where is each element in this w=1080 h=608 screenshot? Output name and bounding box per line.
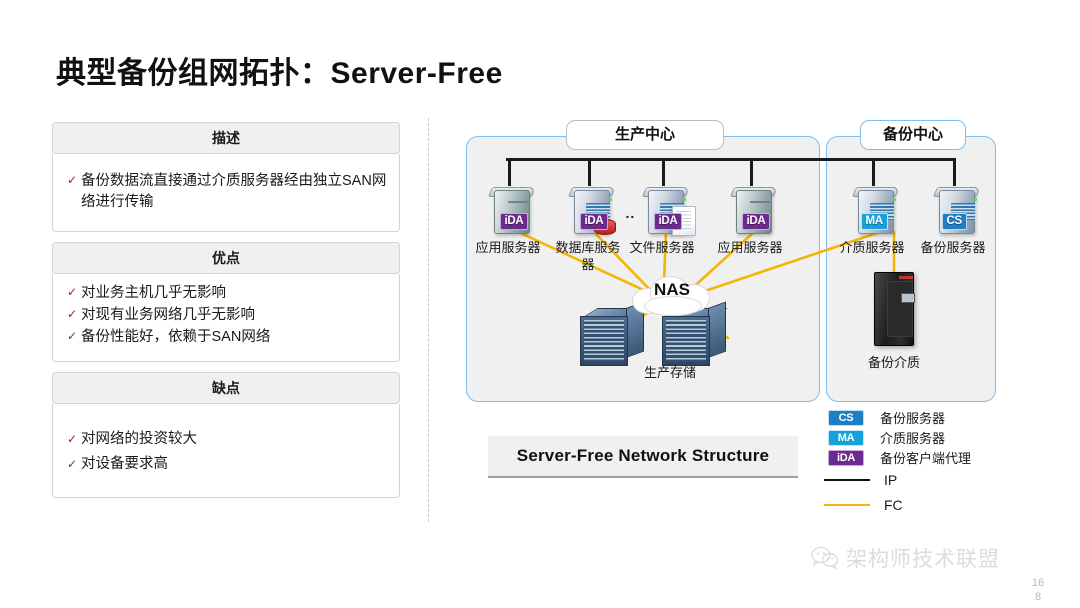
list-item-text: 对网络的投资较大 [81, 427, 197, 451]
lan-drop-line [750, 158, 753, 186]
page-number-top: 16 [1018, 576, 1058, 590]
card-disadvantages: 缺点 ✓ 对网络的投资较大 ✓ 对设备要求高 [52, 372, 400, 498]
server-icon: .. iDA [640, 186, 692, 236]
node-label: 文件服务器 [629, 239, 695, 256]
list-item: ✓ 备份数据流直接通过介质服务器经由独立SAN网络进行传输 [63, 171, 389, 213]
status-led-icon [974, 198, 977, 201]
status-led-icon [893, 198, 896, 201]
ida-badge-icon: iDA [828, 450, 864, 466]
check-icon: ✓ [63, 283, 81, 302]
status-led-icon [683, 198, 686, 201]
server-icon: iDA [566, 186, 618, 236]
card-body-description: ✓ 备份数据流直接通过介质服务器经由独立SAN网络进行传输 [52, 154, 400, 232]
check-icon: ✓ [63, 171, 81, 190]
node-app-server-1: iDA 应用服务器 [482, 186, 541, 256]
agent-badge-ida: iDA [500, 213, 529, 230]
legend-item-cs: CS 备份服务器 [828, 408, 1048, 427]
legend: CS 备份服务器 MA 介质服务器 iDA 备份客户端代理 IP FC [828, 408, 1048, 518]
list-item: ✓ 对现有业务网络几乎无影响 [63, 305, 389, 326]
list-item: ✓ 对网络的投资较大 [63, 427, 389, 451]
node-label: 应用服务器 [717, 239, 783, 256]
structure-banner: Server-Free Network Structure [488, 436, 798, 478]
list-item: ✓ 备份性能好，依赖于SAN网络 [63, 327, 389, 348]
list-item: ✓ 对业务主机几乎无影响 [63, 283, 389, 304]
server-slot [508, 201, 528, 203]
list-item-text: 对业务主机几乎无影响 [81, 283, 226, 304]
node-media-server: MA 介质服务器 [846, 186, 905, 256]
agent-badge-ida: iDA [580, 213, 609, 230]
card-description: 描述 ✓ 备份数据流直接通过介质服务器经由独立SAN网络进行传输 [52, 122, 400, 232]
tape-brand-mark [899, 276, 913, 279]
lan-drop-line [953, 158, 956, 186]
tape-caption: 备份介质 [840, 352, 948, 371]
page-number: 16 8 [1018, 576, 1058, 604]
list-item-text: 备份性能好，依赖于SAN网络 [81, 327, 270, 348]
vertical-divider [428, 118, 429, 522]
card-heading-description: 描述 [52, 122, 400, 154]
node-app-server-2: iDA 应用服务器 [724, 186, 783, 256]
server-icon: iDA [486, 186, 538, 236]
ellipsis-indicator: .. [626, 208, 636, 218]
agent-badge-cs: CS [942, 213, 967, 230]
agent-badge-ida: iDA [742, 213, 771, 230]
array-front [580, 316, 628, 366]
nas-san-cloud-icon: NAS [628, 272, 716, 316]
legend-label: 备份客户端代理 [880, 448, 971, 467]
network-topology-diagram: 生产中心 备份中心 LAN [440, 112, 1080, 608]
node-label: 数据库服务器 [555, 239, 621, 273]
left-info-panel: 描述 ✓ 备份数据流直接通过介质服务器经由独立SAN网络进行传输 优点 ✓ 对业… [52, 122, 400, 508]
server-icon: MA [850, 186, 902, 236]
check-icon: ✓ [63, 305, 81, 324]
cloud-label: NAS [628, 281, 716, 299]
legend-label: 介质服务器 [880, 428, 945, 447]
zone-label-production: 生产中心 [566, 120, 724, 150]
watermark-text: 架构师技术联盟 [846, 543, 1000, 573]
legend-item-ida: iDA 备份客户端代理 [828, 448, 1048, 467]
page-number-bottom: 8 [1018, 590, 1058, 604]
tape-cabinet [874, 272, 914, 346]
tape-door [887, 281, 913, 337]
tape-panel [901, 293, 915, 303]
wechat-icon [810, 546, 840, 570]
list-item-text: 对现有业务网络几乎无影响 [81, 305, 255, 326]
lan-drop-line [588, 158, 591, 186]
ma-badge-icon: MA [828, 430, 864, 446]
server-slot [750, 201, 770, 203]
legend-item-ma: MA 介质服务器 [828, 428, 1048, 447]
legend-label: 备份服务器 [880, 408, 945, 427]
server-icon: iDA [728, 186, 780, 236]
card-advantages: 优点 ✓ 对业务主机几乎无影响 ✓ 对现有业务网络几乎无影响 ✓ 备份性能好，依… [52, 242, 400, 362]
zone-label-backup: 备份中心 [860, 120, 966, 150]
watermark: 架构师技术联盟 [810, 543, 1000, 573]
status-led-icon [609, 198, 612, 201]
lan-bus-line [506, 158, 956, 161]
lan-drop-line [872, 158, 875, 186]
storage-array-icon [580, 308, 642, 364]
node-label: 介质服务器 [839, 239, 905, 256]
fc-line-icon [824, 504, 870, 506]
legend-item-fc: FC [828, 493, 1048, 517]
check-icon: ✓ [63, 427, 81, 451]
check-icon: ✓ [63, 452, 81, 476]
node-label: 应用服务器 [475, 239, 541, 256]
card-heading-disadvantages: 缺点 [52, 372, 400, 404]
array-front [662, 316, 710, 366]
cs-badge-icon: CS [828, 410, 864, 426]
card-body-advantages: ✓ 对业务主机几乎无影响 ✓ 对现有业务网络几乎无影响 ✓ 备份性能好，依赖于S… [52, 274, 400, 362]
node-file-server: .. iDA 文件服务器 [636, 186, 695, 256]
legend-label: IP [884, 472, 897, 488]
cloud-puff [644, 296, 702, 316]
lan-drop-line [662, 158, 665, 186]
server-icon: CS [931, 186, 983, 236]
ip-line-icon [824, 479, 870, 481]
legend-label: FC [884, 497, 903, 513]
node-database-server: iDA 数据库服务器 [562, 186, 621, 273]
agent-badge-ma: MA [861, 213, 888, 230]
slide-root: 典型备份组网拓扑：Server-Free 描述 ✓ 备份数据流直接通过介质服务器… [0, 0, 1080, 608]
storage-caption: 生产存储 [590, 362, 750, 381]
list-item: ✓ 对设备要求高 [63, 452, 389, 476]
card-heading-advantages: 优点 [52, 242, 400, 274]
storage-array-icon [662, 308, 724, 364]
list-item-text: 对设备要求高 [81, 452, 168, 476]
agent-badge-ida: iDA [654, 213, 683, 230]
tape-library-icon [868, 272, 920, 346]
legend-item-ip: IP [828, 468, 1048, 492]
check-icon: ✓ [63, 327, 81, 346]
lan-drop-line [508, 158, 511, 186]
list-item-text: 备份数据流直接通过介质服务器经由独立SAN网络进行传输 [81, 171, 389, 213]
page-title: 典型备份组网拓扑：Server-Free [56, 48, 503, 92]
card-body-disadvantages: ✓ 对网络的投资较大 ✓ 对设备要求高 [52, 404, 400, 498]
node-label: 备份服务器 [920, 239, 986, 256]
node-backup-server: CS 备份服务器 [927, 186, 986, 256]
